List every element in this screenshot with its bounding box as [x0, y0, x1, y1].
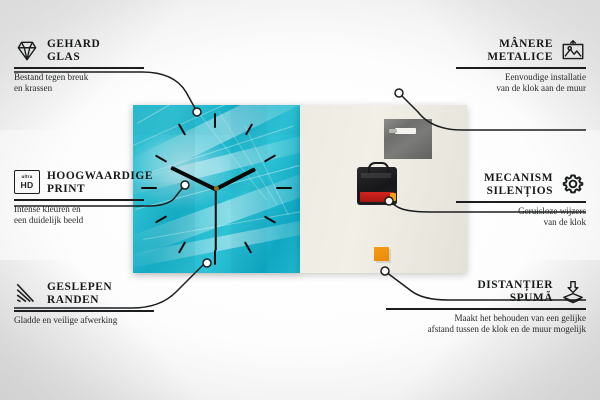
callout-rule — [456, 67, 586, 69]
leader-endpoint — [193, 108, 201, 116]
leader-endpoint — [381, 267, 389, 275]
ultra-hd-icon: ultra HD — [14, 170, 40, 196]
callout-title: DISTANȚIER SPUMĂ — [477, 279, 553, 305]
beveled-edge-icon — [14, 281, 40, 307]
leader-endpoint — [385, 197, 393, 205]
callout-description: Eenvoudige installatie van de klok aan d… — [456, 72, 586, 95]
callout-header: MECANISM SILENȚIOS — [456, 172, 586, 198]
infographic-canvas: GEHARD GLAS Bestand tegen breuk en krass… — [0, 0, 600, 400]
callout-distantier-spuma: DISTANȚIER SPUMĂ Maakt het behouden van … — [386, 279, 586, 336]
leader-endpoint — [181, 181, 189, 189]
callout-rule — [14, 310, 154, 312]
callout-header: GESLEPEN RANDEN — [14, 281, 154, 307]
callout-header: GEHARD GLAS — [14, 38, 144, 64]
callout-hoogwaardige-print: ultra HD HOOGWAARDIGE PRINT Intense kleu… — [14, 170, 144, 227]
callout-description: Geruisloze wijzers van de klok — [456, 206, 586, 229]
callout-header: DISTANȚIER SPUMĂ — [386, 279, 586, 305]
callout-rule — [14, 67, 144, 69]
leader-line-manere-metalice — [400, 94, 586, 130]
callout-description: Gladde en veilige afwerking — [14, 315, 154, 326]
callout-description: Intense kleuren en een duidelijk beeld — [14, 204, 144, 227]
callout-title: MECANISM SILENȚIOS — [484, 172, 553, 198]
gear-icon — [560, 172, 586, 198]
callout-title: MÂNERE METALICE — [487, 38, 553, 64]
ultra-hd-icon-top-text: ultra — [22, 175, 33, 180]
callout-gehard-glas: GEHARD GLAS Bestand tegen breuk en krass… — [14, 38, 144, 95]
layers-arrow-down-icon — [560, 279, 586, 305]
leader-endpoint — [203, 259, 211, 267]
callout-geslepen-randen: GESLEPEN RANDEN Gladde en veilige afwerk… — [14, 281, 154, 326]
leader-endpoint — [395, 89, 403, 97]
callout-rule — [14, 199, 144, 201]
diamond-icon — [14, 38, 40, 64]
callout-manere-metalice: MÂNERE METALICE Eenvoudige installatie v… — [456, 38, 586, 95]
ultra-hd-icon-bottom-text: HD — [20, 181, 33, 190]
callout-description: Bestand tegen breuk en krassen — [14, 72, 144, 95]
callout-title: GEHARD GLAS — [47, 38, 100, 64]
callout-header: ultra HD HOOGWAARDIGE PRINT — [14, 170, 144, 196]
callout-header: MÂNERE METALICE — [456, 38, 586, 64]
callout-mecanism-silentios: MECANISM SILENȚIOS Geruisloze wijzers va… — [456, 172, 586, 229]
callout-title: GESLEPEN RANDEN — [47, 281, 112, 307]
callout-description: Maakt het behouden van een gelijke afsta… — [386, 313, 586, 336]
picture-frame-icon — [560, 38, 586, 64]
callout-title: HOOGWAARDIGE PRINT — [47, 170, 153, 196]
callout-rule — [456, 201, 586, 203]
callout-rule — [386, 308, 586, 310]
clock-hub — [214, 186, 219, 191]
